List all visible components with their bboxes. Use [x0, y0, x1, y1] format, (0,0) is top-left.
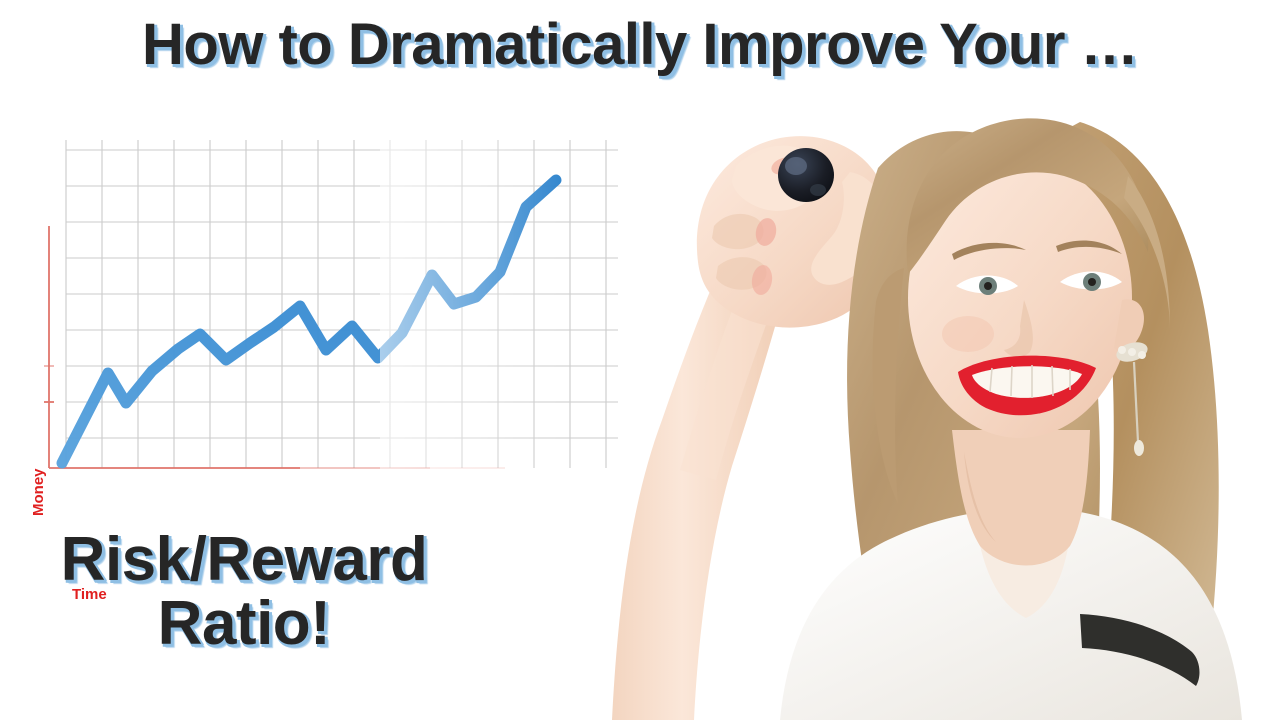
- chart-svg: [0, 120, 620, 510]
- hand: [697, 136, 891, 327]
- chart-axes: [44, 226, 505, 468]
- chart-gridlines: [66, 140, 618, 468]
- thumbnail-canvas: Money Time: [0, 0, 1280, 720]
- face: [908, 158, 1144, 438]
- marker-pen-icon: [778, 148, 834, 202]
- hair-front: [873, 118, 1170, 504]
- forearm: [612, 268, 788, 720]
- earring: [1114, 339, 1150, 456]
- page-title: How to Dramatically Improve Your …: [0, 16, 1280, 74]
- subtitle-line-1: Risk/Reward: [24, 528, 464, 592]
- mouth: [958, 356, 1096, 416]
- chart-x-axis-label: Time: [72, 586, 107, 603]
- growth-chart: Money Time: [0, 120, 620, 510]
- chart-y-axis-label: Money: [30, 468, 47, 516]
- white-top: [780, 508, 1242, 720]
- neck: [952, 430, 1090, 566]
- hair-back: [847, 122, 1219, 720]
